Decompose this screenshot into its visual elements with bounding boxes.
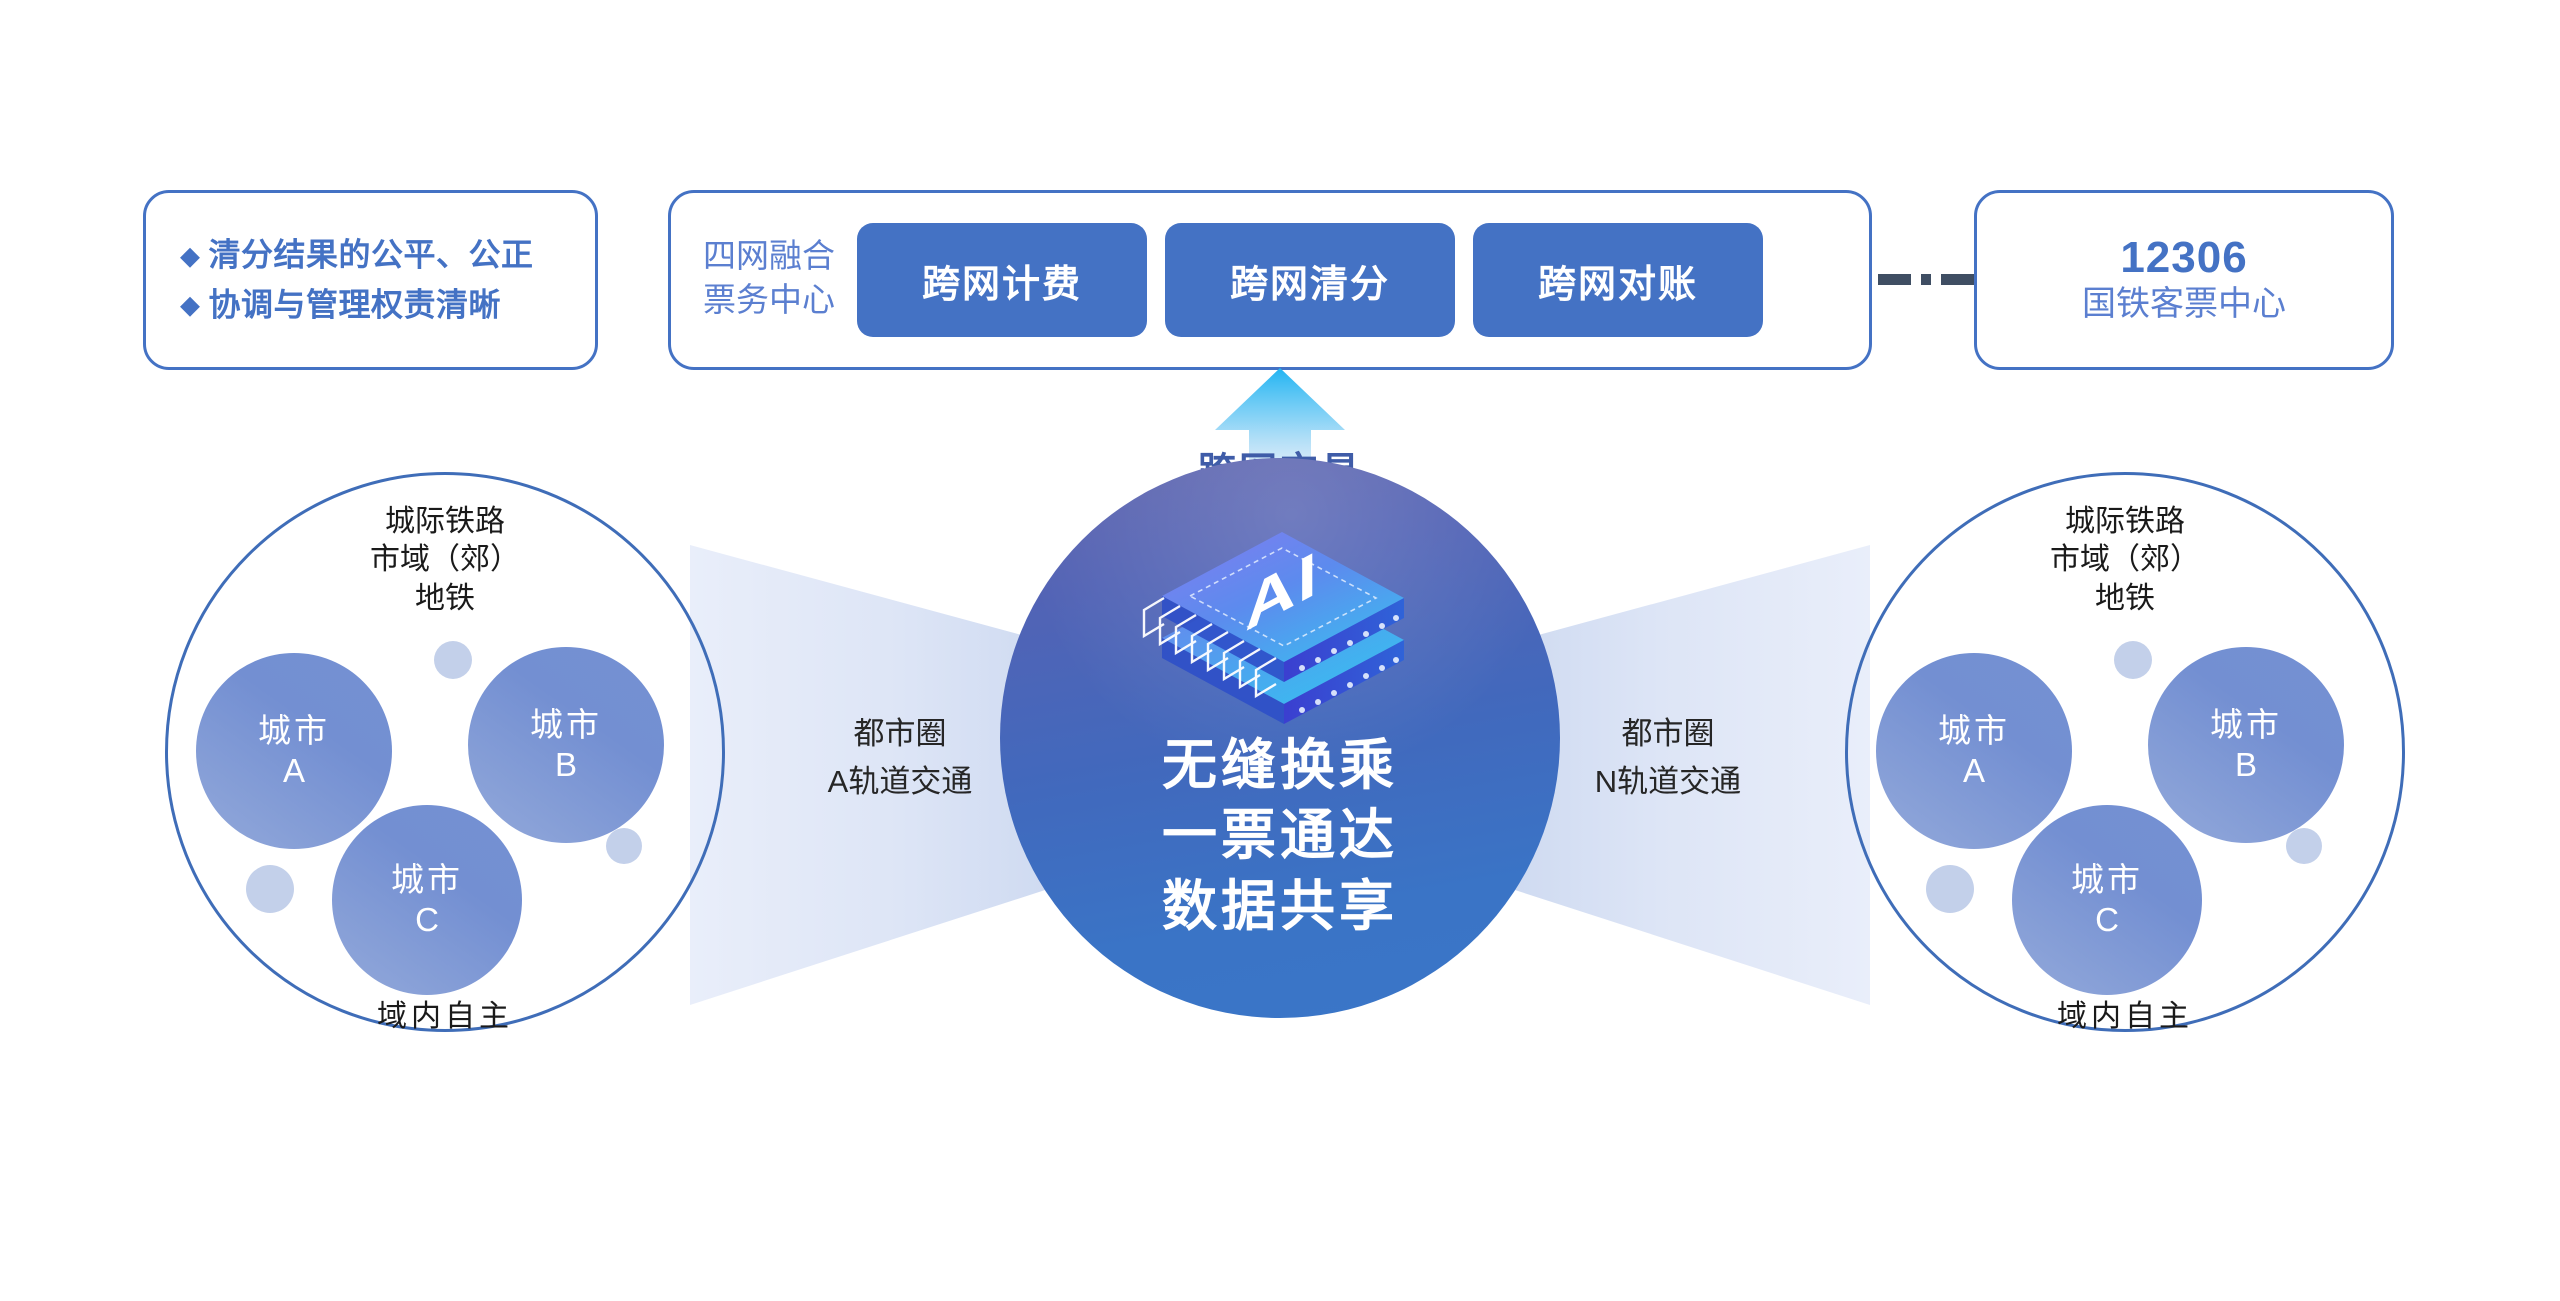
decor-dot	[606, 828, 642, 864]
decor-dot	[2286, 828, 2322, 864]
region-title-left: 城际铁路 市域（郊） 地铁	[370, 503, 520, 618]
pill-cross-network-clearing[interactable]: 跨网清分	[1165, 223, 1455, 337]
funnel-label-left: 都市圈 A轨道交通	[790, 710, 1010, 806]
region-footer-left: 域内自主	[377, 991, 513, 1035]
core-sphere: AI	[1000, 458, 1560, 1018]
region-circle-right: 城际铁路 市域（郊） 地铁 城市 A 城市 B 城市 C 域内自主	[1845, 472, 2405, 1032]
hub-function-row: 跨网计费 跨网清分 跨网对账	[857, 223, 1763, 337]
pill-cross-network-billing[interactable]: 跨网计费	[857, 223, 1147, 337]
ticketing-hub-card: 四网融合 票务中心 跨网计费 跨网清分 跨网对账	[668, 190, 1872, 370]
city-letter: C	[2095, 900, 2119, 940]
diamond-bullet-icon: ◆	[180, 292, 201, 318]
city-letter: B	[555, 745, 577, 785]
region-circle-left: 城际铁路 市域（郊） 地铁 城市 A 城市 B 城市 C 域内自主	[165, 472, 725, 1032]
principle-text: 清分结果的公平、公正	[209, 230, 534, 280]
hub-label-line1: 四网融合	[703, 236, 835, 280]
slogan-line3: 数据共享	[1000, 871, 1560, 941]
city-label: 城市	[258, 711, 330, 751]
city-letter: A	[283, 751, 305, 791]
connector-dash	[1941, 274, 1974, 285]
city-bubble-c: 城市 C	[332, 805, 522, 995]
ticketing-hub-label: 四网融合 票务中心	[703, 236, 835, 323]
rail-ticket-center-card: 12306 国铁客票中心	[1974, 190, 2394, 370]
pill-cross-network-reconciliation[interactable]: 跨网对账	[1473, 223, 1763, 337]
slogan-line1: 无缝换乘	[1000, 730, 1560, 800]
region-title-line1: 城际铁路	[2050, 503, 2200, 541]
list-item: ◆ 协调与管理权责清晰	[180, 280, 595, 330]
city-bubble-b: 城市 B	[468, 647, 664, 843]
region-title-right: 城际铁路 市域（郊） 地铁	[2050, 503, 2200, 618]
service-number: 12306	[2120, 233, 2247, 284]
principles-list: ◆ 清分结果的公平、公正 ◆ 协调与管理权责清晰	[146, 230, 595, 329]
ai-chip-icon: AI	[1122, 478, 1442, 758]
city-label: 城市	[2210, 705, 2282, 745]
funnel-left-line1: 都市圈	[790, 710, 1010, 758]
decor-dot	[246, 865, 294, 913]
city-label: 城市	[391, 860, 463, 900]
diagram-canvas: ◆ 清分结果的公平、公正 ◆ 协调与管理权责清晰 四网融合 票务中心 跨网计费 …	[0, 0, 2560, 1301]
city-letter: C	[415, 900, 439, 940]
city-bubble-c: 城市 C	[2012, 805, 2202, 995]
region-title-line1: 城际铁路	[370, 503, 520, 541]
funnel-right-line2: N轨道交通	[1558, 758, 1778, 806]
city-label: 城市	[530, 705, 602, 745]
connector-dot	[1921, 274, 1932, 285]
hub-label-line2: 票务中心	[703, 280, 835, 324]
decor-dot	[2114, 641, 2152, 679]
rail-center-name: 国铁客票中心	[2082, 283, 2286, 327]
region-title-line2: 市域（郊）	[2050, 541, 2200, 579]
decor-dot	[434, 641, 472, 679]
funnel-left-line2: A轨道交通	[790, 758, 1010, 806]
city-letter: A	[1963, 751, 1985, 791]
decor-dot	[1926, 865, 1974, 913]
region-footer-right: 域内自主	[2057, 991, 2193, 1035]
city-bubble-a: 城市 A	[196, 653, 392, 849]
city-bubble-b: 城市 B	[2148, 647, 2344, 843]
connector-dash	[1878, 274, 1911, 285]
slogan-line2: 一票通达	[1000, 800, 1560, 870]
core-slogan: 无缝换乘 一票通达 数据共享	[1000, 730, 1560, 941]
diamond-bullet-icon: ◆	[180, 242, 201, 268]
funnel-right-line1: 都市圈	[1558, 710, 1778, 758]
principle-text: 协调与管理权责清晰	[209, 280, 502, 330]
region-title-line2: 市域（郊）	[370, 541, 520, 579]
dash-dot-connector	[1878, 274, 1974, 285]
list-item: ◆ 清分结果的公平、公正	[180, 230, 595, 280]
city-label: 城市	[2071, 860, 2143, 900]
principles-card: ◆ 清分结果的公平、公正 ◆ 协调与管理权责清晰	[143, 190, 598, 370]
city-label: 城市	[1938, 711, 2010, 751]
region-title-line3: 地铁	[370, 580, 520, 618]
funnel-label-right: 都市圈 N轨道交通	[1558, 710, 1778, 806]
region-title-line3: 地铁	[2050, 580, 2200, 618]
city-letter: B	[2235, 745, 2257, 785]
city-bubble-a: 城市 A	[1876, 653, 2072, 849]
